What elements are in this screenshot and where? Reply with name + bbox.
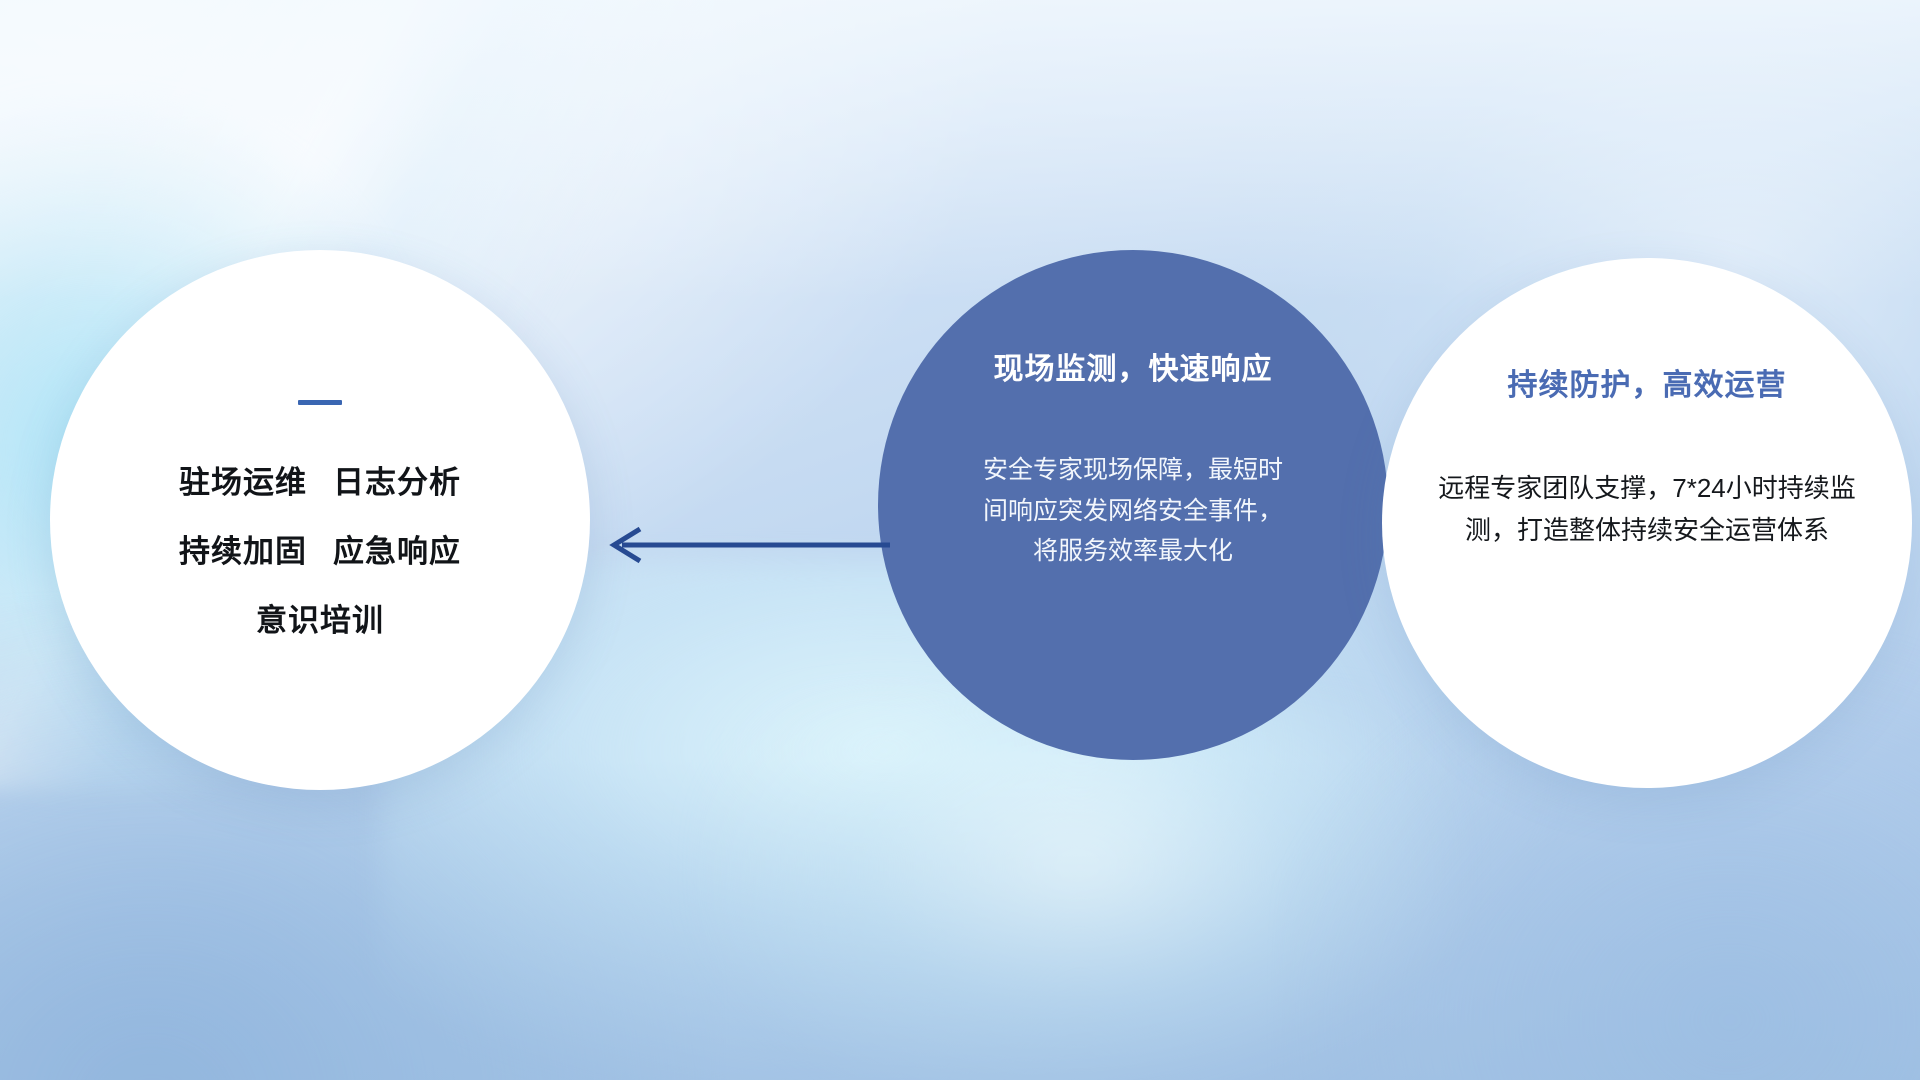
horizontal-dash-icon [298, 400, 342, 405]
capability-item-zhuchangyunwei: 驻场运维 [179, 465, 307, 500]
capability-circle-left[interactable]: 驻场运维日志分析 持续加固应急响应 意识培训 [50, 250, 590, 790]
service-circle-continuous[interactable]: 持续防护，高效运营 远程专家团队支撑，7*24小时持续监测，打造整体持续安全运营… [1382, 258, 1912, 788]
capability-item-rizhifenxi: 日志分析 [333, 465, 461, 500]
capability-row-2: 持续加固应急响应 [179, 526, 461, 571]
diagram-stage: 驻场运维日志分析 持续加固应急响应 意识培训 现场监测，快速响应 安全专家现场保… [0, 0, 1920, 1080]
capability-circle-left-content: 驻场运维日志分析 持续加固应急响应 意识培训 [50, 250, 590, 790]
service-circle-continuous-content: 持续防护，高效运营 远程专家团队支撑，7*24小时持续监测，打造整体持续安全运营… [1382, 258, 1912, 788]
capability-row-1: 驻场运维日志分析 [179, 457, 461, 502]
service-circle-onsite-content: 现场监测，快速响应 安全专家现场保障，最短时间响应突发网络安全事件，将服务效率最… [878, 250, 1388, 760]
capability-item-chixujiagu: 持续加固 [179, 534, 307, 569]
service-title-onsite: 现场监测，快速响应 [994, 344, 1273, 388]
capability-list: 驻场运维日志分析 持续加固应急响应 意识培训 [179, 457, 461, 640]
service-body-continuous: 远程专家团队支撑，7*24小时持续监测，打造整体持续安全运营体系 [1437, 468, 1857, 551]
service-title-continuous: 持续防护，高效运营 [1508, 360, 1787, 404]
arrow-left-icon [600, 520, 890, 570]
service-circle-onsite[interactable]: 现场监测，快速响应 安全专家现场保障，最短时间响应突发网络安全事件，将服务效率最… [878, 250, 1388, 760]
service-body-onsite: 安全专家现场保障，最短时间响应突发网络安全事件，将服务效率最大化 [983, 450, 1283, 572]
capability-row-3: 意识培训 [256, 595, 384, 640]
capability-item-yingjixiangying: 应急响应 [333, 534, 461, 569]
